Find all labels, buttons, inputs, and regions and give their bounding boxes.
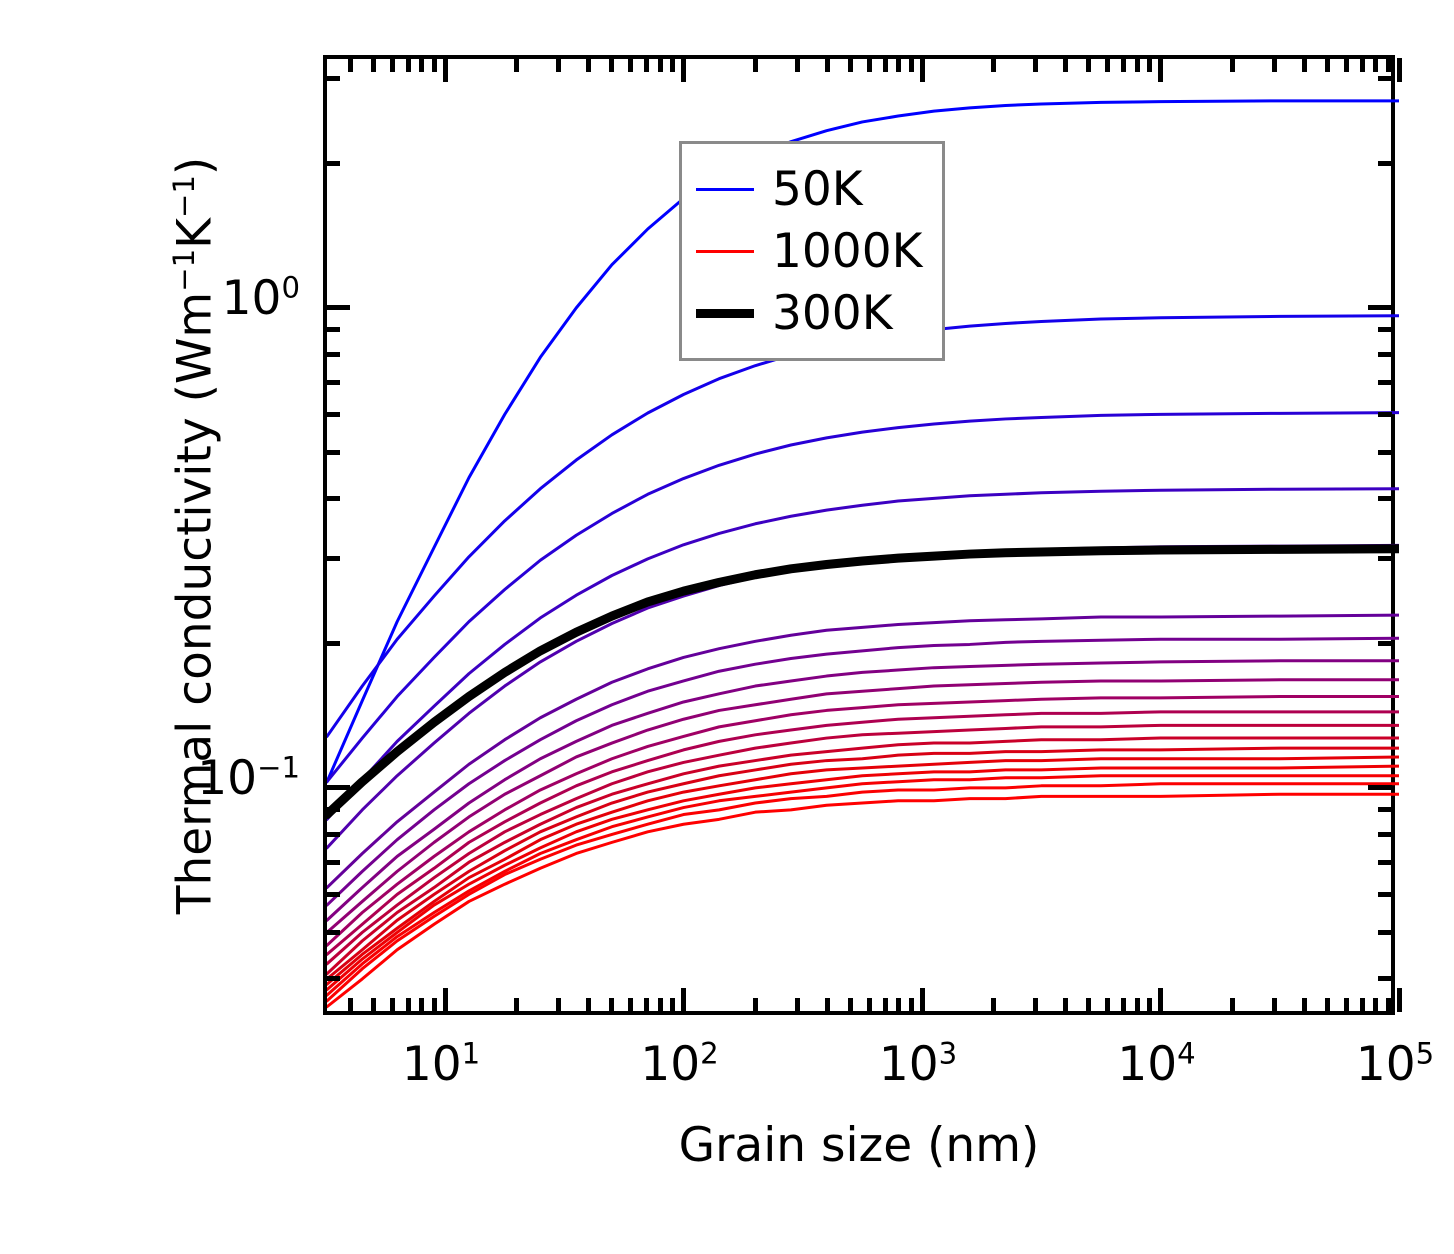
x-tick-minor bbox=[658, 58, 663, 72]
legend-item-label: 1000K bbox=[772, 224, 922, 279]
x-tick-minor bbox=[628, 58, 633, 72]
y-tick-minor bbox=[326, 450, 340, 455]
y-tick-minor bbox=[326, 832, 340, 837]
x-tick-top-minor bbox=[896, 998, 901, 1012]
legend-line-swatch bbox=[696, 188, 754, 191]
x-tick-minor bbox=[795, 58, 800, 72]
x-tick-label-mantissa: 10 bbox=[402, 1037, 462, 1092]
x-tick-top-minor bbox=[514, 998, 519, 1012]
x-tick-top-minor bbox=[406, 998, 411, 1012]
figure-canvas: Thermal conductivity (Wm−1K−1) Grain siz… bbox=[0, 0, 1454, 1254]
y-axis-label-exponent-2: −1 bbox=[167, 175, 201, 218]
y-tick-minor bbox=[326, 976, 340, 981]
y-tick-minor bbox=[326, 327, 340, 332]
x-tick-top-minor bbox=[348, 998, 353, 1012]
x-tick-label-exponent: 1 bbox=[462, 1036, 481, 1070]
curve-850k bbox=[327, 766, 1399, 989]
y-tick-label-exponent: 0 bbox=[281, 270, 300, 304]
y-tick-minor bbox=[326, 496, 340, 501]
x-tick-minor bbox=[1373, 58, 1378, 72]
x-tick-top-minor bbox=[419, 998, 424, 1012]
x-tick-minor bbox=[432, 58, 437, 72]
legend-line-swatch bbox=[696, 250, 754, 253]
x-tick-top-minor bbox=[825, 998, 830, 1012]
x-tick-label-mantissa: 10 bbox=[879, 1037, 939, 1092]
x-tick-top-minor bbox=[1360, 998, 1365, 1012]
y-tick-label: 100 bbox=[130, 271, 300, 326]
x-tick-top-minor bbox=[556, 998, 561, 1012]
x-tick-top-minor bbox=[609, 998, 614, 1012]
x-tick-label-mantissa: 10 bbox=[1117, 1037, 1177, 1092]
x-tick-top-minor bbox=[432, 998, 437, 1012]
x-tick-minor bbox=[1344, 58, 1349, 72]
y-tick-right-minor bbox=[1378, 380, 1392, 385]
x-tick-minor bbox=[825, 58, 830, 72]
x-tick-minor bbox=[670, 58, 675, 72]
legend-line-swatch bbox=[696, 309, 754, 318]
x-axis-label: Grain size (nm) bbox=[323, 1118, 1395, 1173]
y-tick-minor bbox=[326, 380, 340, 385]
x-tick-top-minor bbox=[1272, 998, 1277, 1012]
curve-400k bbox=[327, 638, 1399, 905]
y-tick-minor bbox=[326, 352, 340, 357]
y-tick-right-minor bbox=[1378, 496, 1392, 501]
y-tick-label-mantissa: 10 bbox=[197, 751, 257, 806]
x-tick-minor bbox=[848, 58, 853, 72]
x-tick-top-minor bbox=[1325, 998, 1330, 1012]
x-tick-minor bbox=[1033, 58, 1038, 72]
x-tick-minor bbox=[896, 58, 901, 72]
x-tick-top-minor bbox=[1063, 998, 1068, 1012]
x-tick-minor bbox=[867, 58, 872, 72]
x-tick-major bbox=[920, 58, 925, 82]
x-tick-top-minor bbox=[586, 998, 591, 1012]
x-tick-minor bbox=[991, 58, 996, 72]
x-tick-minor bbox=[609, 58, 614, 72]
curve-650k bbox=[327, 725, 1399, 963]
y-tick-right-minor bbox=[1378, 161, 1392, 166]
x-tick-top-minor bbox=[1302, 998, 1307, 1012]
x-tick-minor bbox=[1386, 58, 1391, 72]
x-tick-label-mantissa: 10 bbox=[1356, 1037, 1416, 1092]
x-tick-minor bbox=[556, 58, 561, 72]
x-tick-top-major bbox=[1397, 988, 1402, 1012]
x-tick-top-minor bbox=[644, 998, 649, 1012]
y-tick-major bbox=[326, 305, 350, 310]
x-tick-top-minor bbox=[848, 998, 853, 1012]
x-tick-label: 105 bbox=[1305, 1037, 1454, 1092]
y-tick-minor bbox=[326, 161, 340, 166]
y-tick-right-minor bbox=[1378, 641, 1392, 646]
x-tick-top-minor bbox=[867, 998, 872, 1012]
y-tick-major bbox=[326, 785, 350, 790]
curve-500k bbox=[327, 680, 1399, 933]
y-tick-minor bbox=[326, 641, 340, 646]
x-tick-major bbox=[1158, 58, 1163, 82]
x-tick-minor bbox=[514, 58, 519, 72]
y-tick-right-minor bbox=[1378, 412, 1392, 417]
x-tick-major bbox=[681, 58, 686, 82]
x-tick-major bbox=[1397, 58, 1402, 82]
y-axis-label-suffix: ) bbox=[168, 157, 223, 175]
x-tick-label: 104 bbox=[1067, 1037, 1247, 1092]
legend-item-300k[interactable]: 300K bbox=[696, 282, 922, 344]
x-tick-minor bbox=[1121, 58, 1126, 72]
y-tick-right-minor bbox=[1378, 327, 1392, 332]
y-tick-minor bbox=[326, 412, 340, 417]
y-tick-minor bbox=[326, 556, 340, 561]
y-tick-right-minor bbox=[1378, 556, 1392, 561]
x-tick-top-minor bbox=[628, 998, 633, 1012]
y-axis-label-prefix: Thermal conductivity (Wm bbox=[168, 292, 223, 914]
x-tick-top-minor bbox=[1373, 998, 1378, 1012]
x-tick-label: 103 bbox=[828, 1037, 1008, 1092]
x-tick-top-minor bbox=[795, 998, 800, 1012]
x-tick-minor bbox=[1063, 58, 1068, 72]
y-tick-label-mantissa: 10 bbox=[222, 271, 282, 326]
x-tick-minor bbox=[1272, 58, 1277, 72]
x-tick-top-minor bbox=[883, 998, 888, 1012]
x-tick-top-minor bbox=[1386, 998, 1391, 1012]
y-tick-right-minor bbox=[1378, 976, 1392, 981]
x-tick-top-minor bbox=[1105, 998, 1110, 1012]
x-tick-minor bbox=[390, 58, 395, 72]
y-tick-right-major bbox=[1368, 305, 1392, 310]
x-tick-top-major bbox=[1158, 988, 1163, 1012]
y-tick-right-minor bbox=[1378, 76, 1392, 81]
y-tick-right-minor bbox=[1378, 832, 1392, 837]
curve-1000k bbox=[327, 794, 1399, 1006]
y-tick-right-minor bbox=[1378, 807, 1392, 812]
x-tick-minor bbox=[883, 58, 888, 72]
x-tick-top-minor bbox=[753, 998, 758, 1012]
x-tick-label-mantissa: 10 bbox=[640, 1037, 700, 1092]
x-tick-minor bbox=[1086, 58, 1091, 72]
x-tick-minor bbox=[1135, 58, 1140, 72]
y-tick-right-minor bbox=[1378, 860, 1392, 865]
y-tick-minor bbox=[326, 860, 340, 865]
x-tick-minor bbox=[1325, 58, 1330, 72]
x-tick-top-minor bbox=[670, 998, 675, 1012]
legend-item-label: 300K bbox=[772, 286, 893, 341]
x-tick-label-exponent: 2 bbox=[700, 1036, 719, 1070]
x-tick-top-minor bbox=[1344, 998, 1349, 1012]
x-tick-top-minor bbox=[1147, 998, 1152, 1012]
x-tick-label: 102 bbox=[590, 1037, 770, 1092]
x-tick-top-minor bbox=[1086, 998, 1091, 1012]
y-axis-label-mid: K bbox=[168, 218, 223, 249]
x-tick-top-minor bbox=[371, 998, 376, 1012]
x-tick-label-exponent: 3 bbox=[939, 1036, 958, 1070]
x-tick-minor bbox=[406, 58, 411, 72]
y-tick-minor bbox=[326, 76, 340, 81]
x-tick-minor bbox=[1230, 58, 1235, 72]
x-tick-top-major bbox=[681, 988, 686, 1012]
y-tick-minor bbox=[326, 930, 340, 935]
y-tick-minor bbox=[326, 892, 340, 897]
y-tick-right-minor bbox=[1378, 892, 1392, 897]
x-tick-top-major bbox=[920, 988, 925, 1012]
legend-item-label: 50K bbox=[772, 162, 863, 217]
x-tick-top-minor bbox=[1135, 998, 1140, 1012]
y-tick-label-exponent: −1 bbox=[257, 750, 300, 784]
legend-item-1000k[interactable]: 1000K bbox=[696, 220, 922, 282]
y-tick-right-minor bbox=[1378, 352, 1392, 357]
y-tick-right-minor bbox=[1378, 450, 1392, 455]
x-tick-top-minor bbox=[390, 998, 395, 1012]
x-tick-top-minor bbox=[909, 998, 914, 1012]
x-tick-top-minor bbox=[658, 998, 663, 1012]
y-tick-right-major bbox=[1368, 785, 1392, 790]
x-tick-minor bbox=[1147, 58, 1152, 72]
x-tick-top-minor bbox=[1121, 998, 1126, 1012]
legend-box: 50K1000K300K bbox=[679, 141, 945, 361]
x-tick-label-exponent: 4 bbox=[1177, 1036, 1196, 1070]
y-tick-minor bbox=[326, 807, 340, 812]
y-tick-label: 10−1 bbox=[130, 751, 300, 806]
curve-350k bbox=[327, 615, 1399, 887]
legend-item-50k[interactable]: 50K bbox=[696, 158, 922, 220]
x-tick-minor bbox=[419, 58, 424, 72]
curve-700k bbox=[327, 738, 1399, 974]
x-tick-minor bbox=[753, 58, 758, 72]
x-tick-minor bbox=[1105, 58, 1110, 72]
x-tick-minor bbox=[1302, 58, 1307, 72]
plot-area: 50K1000K300K bbox=[323, 55, 1395, 1015]
x-tick-minor bbox=[909, 58, 914, 72]
x-tick-label: 101 bbox=[351, 1037, 531, 1092]
x-tick-minor bbox=[1360, 58, 1365, 72]
x-tick-top-minor bbox=[1230, 998, 1235, 1012]
y-axis-label: Thermal conductivity (Wm−1K−1) bbox=[168, 66, 223, 1006]
x-tick-minor bbox=[371, 58, 376, 72]
x-tick-label-exponent: 5 bbox=[1416, 1036, 1435, 1070]
x-tick-top-minor bbox=[991, 998, 996, 1012]
y-tick-right-minor bbox=[1378, 930, 1392, 935]
x-tick-major bbox=[443, 58, 448, 82]
x-tick-top-minor bbox=[1033, 998, 1038, 1012]
x-tick-minor bbox=[644, 58, 649, 72]
x-tick-minor bbox=[586, 58, 591, 72]
x-tick-top-major bbox=[443, 988, 448, 1012]
x-tick-minor bbox=[348, 58, 353, 72]
